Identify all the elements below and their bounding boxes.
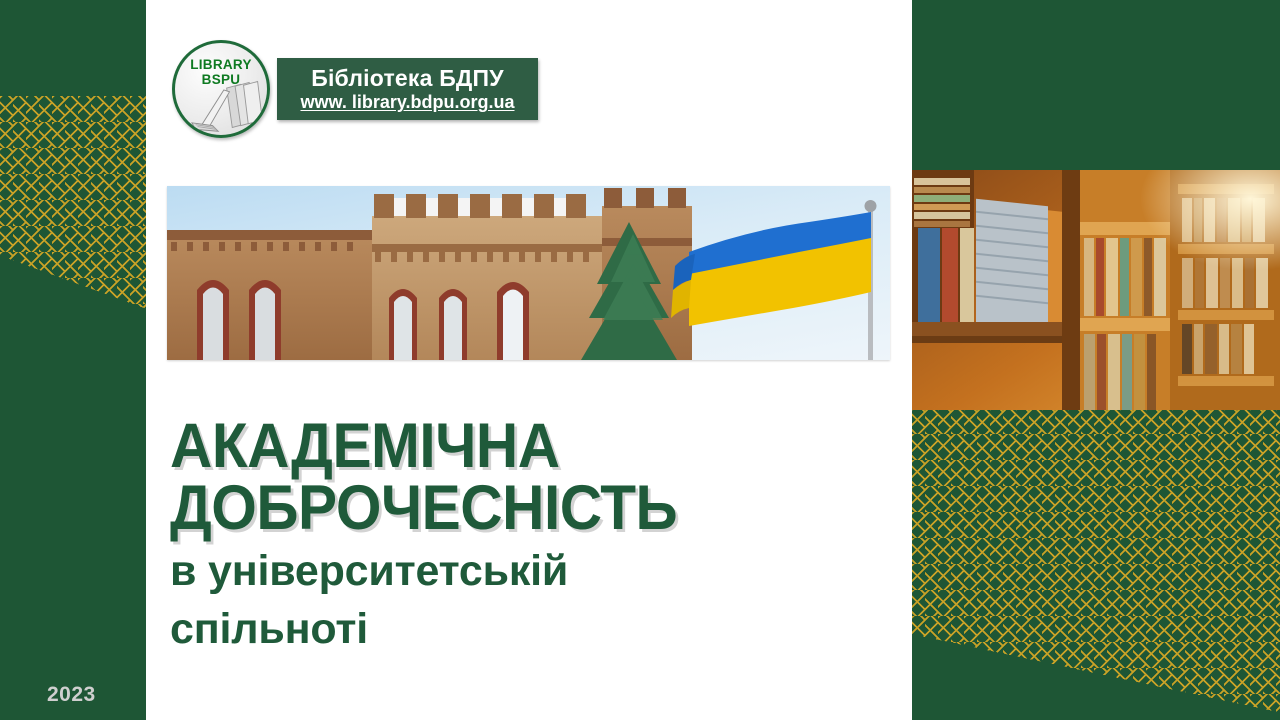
slide-headline: АКАДЕМІЧНА ДОБРОЧЕСНІСТЬ в університетсь… [170,415,910,655]
banner-url-link[interactable]: www. library.bdpu.org.ua [300,91,514,113]
logo-text: LIBRARY BSPU [175,57,267,87]
library-banner: Бібліотека БДПУ www. library.bdpu.org.ua [277,58,538,120]
year-label: 2023 [47,683,96,707]
subtitle-line-1: в університетській [170,545,910,597]
headline-line-2: ДОБРОЧЕСНІСТЬ [170,477,858,539]
library-logo: LIBRARY BSPU [172,40,270,138]
library-shelves-photo [912,170,1280,410]
presentation-slide: LIBRARY BSPU Бібліотека БДПУ www. librar… [0,0,1280,720]
subtitle-line-2: спільноті [170,603,910,655]
logo-badge-circle: LIBRARY BSPU [172,40,270,138]
logo-line-1: LIBRARY [175,57,267,72]
chevron-pattern-right [912,408,1280,720]
chevron-pattern-left [0,96,146,386]
header-photo-strip [167,186,890,360]
logo-line-2: BSPU [175,72,267,87]
banner-title: Бібліотека БДПУ [311,65,504,91]
headline-line-1: АКАДЕМІЧНА [170,415,858,477]
university-building-and-flag-image [167,186,890,360]
bookshelf-illustration [912,170,1280,410]
